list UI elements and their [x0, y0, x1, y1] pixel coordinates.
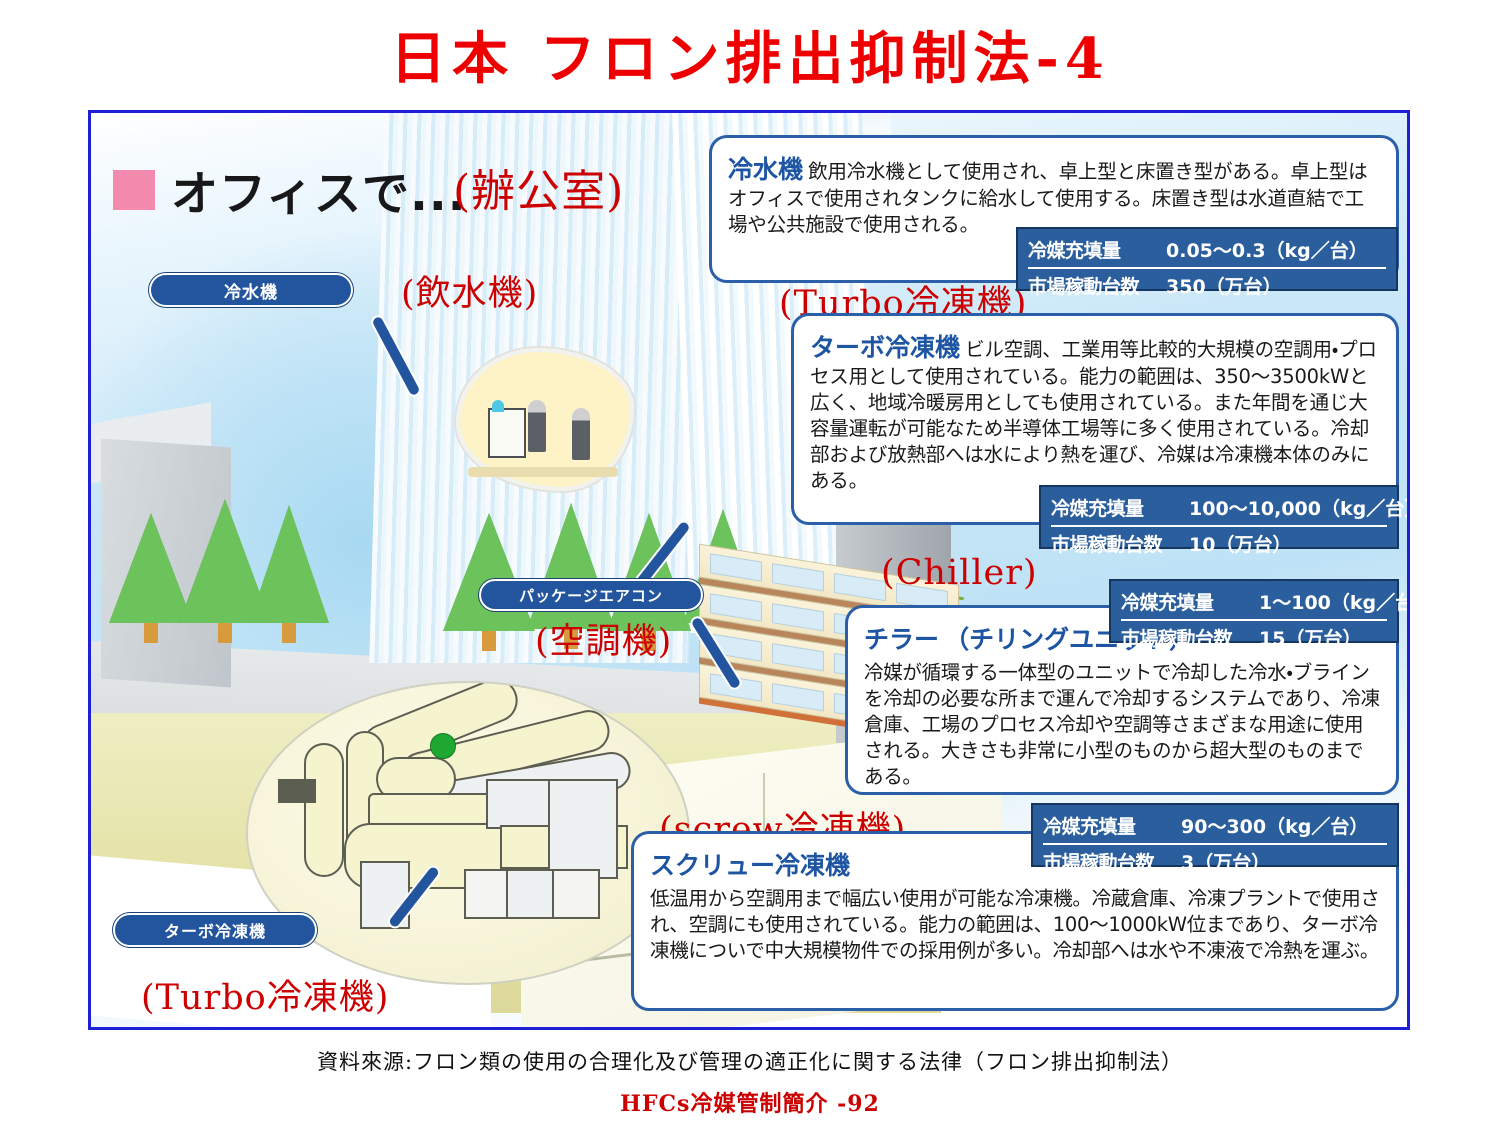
green-indicator-dot: [430, 733, 456, 759]
card-body: 飲用冷水機として使用され、卓上型と床置き型がある。卓上型はオフィスで使用されタン…: [728, 160, 1367, 236]
tree: [443, 513, 535, 631]
card-heading: 冷水機: [728, 155, 803, 184]
spec-table-chiller: 冷媒充填量 1〜100（kg／台） 市場稼動台数 15（万台）: [1109, 579, 1399, 643]
pill-label-text: 冷水機: [224, 278, 278, 303]
water-cooler-icon: [488, 408, 526, 458]
spec-charge-label: 冷媒充填量: [1121, 588, 1259, 615]
spec-charge-label: 冷媒充填量: [1028, 236, 1166, 263]
spec-units-value: 3（万台）: [1181, 848, 1270, 875]
card-body: 低温用から空調用まで幅広い使用が可能な冷凍機。冷蔵倉庫、冷凍プラントで使用され、…: [650, 886, 1380, 964]
spec-units-label: 市場稼動台数: [1028, 272, 1166, 299]
spec-charge-label: 冷媒充填量: [1051, 494, 1189, 521]
annotation-air-conditioner: (空調機): [535, 613, 672, 664]
spec-charge-value: 90〜300（kg／台）: [1181, 812, 1368, 839]
pill-label-package-air-conditioner[interactable]: パッケージエアコン: [479, 579, 703, 611]
annotation-chiller: (Chiller): [881, 553, 1038, 593]
annotation-office: (辦公室): [453, 155, 624, 219]
tree: [249, 505, 329, 623]
office-heading: オフィスで...: [113, 155, 467, 224]
pill-label-cold-water-machine[interactable]: 冷水機: [149, 273, 353, 307]
spec-table-screw-refrigerator: 冷媒充填量 90〜300（kg／台） 市場稼動台数 3（万台）: [1031, 803, 1399, 867]
spec-charge-label: 冷媒充填量: [1043, 812, 1181, 839]
card-heading: チラー: [864, 625, 939, 654]
pill-label-turbo-refrigerator[interactable]: ターボ冷凍機: [113, 913, 317, 947]
source-line: 資料來源:フロン類の使用の合理化及び管理の適正化に関する法律（フロン排出抑制法）: [0, 1046, 1500, 1076]
page-footer: HFCs冷媒管制簡介 -92: [0, 1086, 1500, 1118]
person-figure: [572, 408, 590, 460]
pink-square-bullet-icon: [113, 170, 155, 210]
office-heading-label: オフィスで...: [171, 155, 467, 224]
spec-units-label: 市場稼動台数: [1121, 624, 1259, 651]
spec-units-label: 市場稼動台数: [1043, 848, 1181, 875]
spec-charge-value: 1〜100（kg／台）: [1259, 588, 1410, 615]
spec-units-value: 350（万台）: [1166, 272, 1282, 299]
spec-units-value: 10（万台）: [1189, 530, 1291, 557]
spec-charge-value: 0.05〜0.3（kg／台）: [1166, 236, 1368, 263]
spec-table-turbo-refrigerator: 冷媒充填量 100〜10,000（kg／台） 市場稼動台数 10（万台）: [1039, 485, 1399, 549]
annotation-turbo-bottom: (Turbo冷凍機): [141, 969, 389, 1020]
person-figure: [528, 400, 546, 452]
figure-frame: オフィスで... 冷水機 パッケージエアコン ターボ冷凍機 (辦公室) (飲水機…: [88, 110, 1410, 1030]
spec-units-value: 15（万台）: [1259, 624, 1361, 651]
water-cooler-callout: [456, 348, 634, 491]
spec-units-label: 市場稼動台数: [1051, 530, 1189, 557]
card-heading: ターボ冷凍機: [810, 333, 960, 362]
pill-label-text: ターボ冷凍機: [164, 918, 266, 942]
card-body: 冷媒が循環する一体型のユニットで冷却した冷水・ブラインを冷却の必要な所まで運んで…: [864, 660, 1380, 790]
spec-charge-value: 100〜10,000（kg／台）: [1189, 494, 1410, 521]
pill-label-text: パッケージエアコン: [519, 585, 663, 606]
annotation-drinking-water: (飲水機): [401, 265, 538, 316]
spec-table-cold-water-machine: 冷媒充填量 0.05〜0.3（kg／台） 市場稼動台数 350（万台）: [1016, 227, 1398, 291]
page-title: 日本 フロン排出抑制法-4: [0, 14, 1500, 95]
